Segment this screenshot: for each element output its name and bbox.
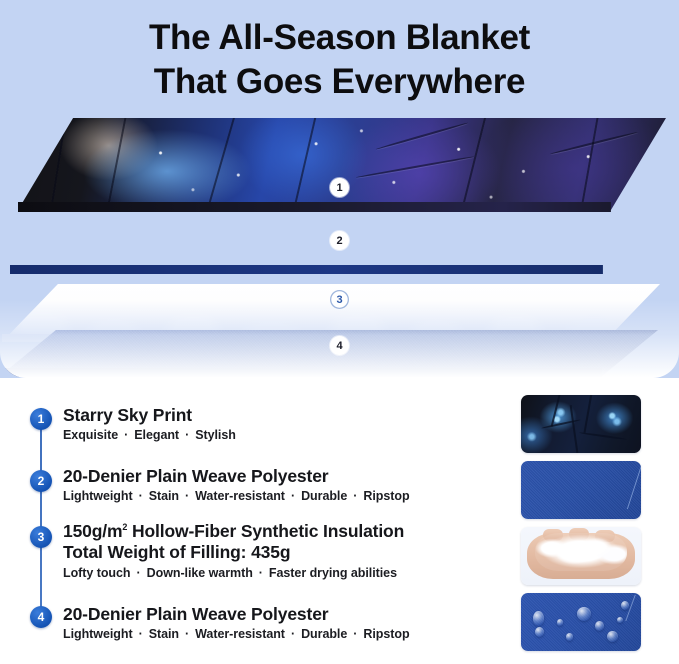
- water-droplet: [617, 617, 623, 623]
- layer-4-polyester-shell: [0, 330, 658, 376]
- separator-dot: ·: [124, 428, 128, 442]
- feature-item-1: Starry Sky Print Exquisite·Elegant·Styli…: [63, 405, 236, 442]
- feature-2-attributes: Lightweight·Stain·Water-resistant·Durabl…: [63, 489, 410, 503]
- feature-badge-1: 1: [30, 408, 52, 430]
- separator-dot: ·: [139, 489, 143, 503]
- thumb-water-beading-on-fabric: [521, 593, 641, 651]
- page-title-line-2: That Goes Everywhere: [0, 60, 679, 104]
- layer-2-edge: [10, 265, 658, 274]
- separator-dot: ·: [353, 627, 357, 641]
- thumb-blue-polyester-closeup: [521, 461, 641, 519]
- water-droplet: [557, 619, 563, 626]
- feature-badge-4: 4: [30, 606, 52, 628]
- stack-marker-1: 1: [330, 178, 349, 197]
- water-droplet: [607, 631, 618, 642]
- feature-4-attr-4: Durable: [301, 627, 347, 641]
- feature-number-rail: 1 2 3 4: [0, 378, 60, 664]
- water-droplet: [621, 601, 629, 610]
- stack-marker-2: 2: [330, 231, 349, 250]
- fiberfill-cluster: [535, 533, 627, 571]
- feature-3-attributes: Lofty touch·Down-like warmth·Faster dryi…: [63, 566, 404, 580]
- layer-4-edge: [0, 368, 658, 377]
- feature-1-attr-1: Exquisite: [63, 428, 118, 442]
- feature-2-attr-1: Lightweight: [63, 489, 133, 503]
- feature-3-gsm-value: 150g/m: [63, 521, 122, 541]
- blanket-layer-stack-diagram: 1 2 3 4: [0, 118, 679, 368]
- feature-1-attributes: Exquisite·Elegant·Stylish: [63, 428, 236, 442]
- feature-3-attr-2: Down-like warmth: [147, 566, 253, 580]
- feature-3-title-line-1: 150g/m2 Hollow-Fiber Synthetic Insulatio…: [63, 521, 404, 542]
- feature-1-attr-2: Elegant: [134, 428, 179, 442]
- fabric-stitch-line: [593, 465, 641, 509]
- water-droplet: [535, 627, 544, 637]
- feature-badge-3: 3: [30, 526, 52, 548]
- water-droplet: [566, 633, 573, 641]
- feature-3-attr-3: Faster drying abilities: [269, 566, 397, 580]
- feature-4-title: 20-Denier Plain Weave Polyester: [63, 604, 410, 625]
- feature-item-4: 20-Denier Plain Weave Polyester Lightwei…: [63, 604, 410, 641]
- feature-2-attr-2: Stain: [149, 489, 179, 503]
- feature-4-attr-5: Ripstop: [363, 627, 409, 641]
- separator-dot: ·: [139, 627, 143, 641]
- water-droplet: [533, 611, 544, 626]
- fabric-seam-line: [597, 595, 635, 621]
- feature-2-title: 20-Denier Plain Weave Polyester: [63, 466, 410, 487]
- feature-3-title-rest: Hollow-Fiber Synthetic Insulation: [127, 521, 404, 541]
- water-droplet: [595, 621, 604, 631]
- thumb-hand-holding-fiberfill: [521, 527, 641, 585]
- feature-item-3: 150g/m2 Hollow-Fiber Synthetic Insulatio…: [63, 521, 404, 580]
- stack-marker-3: 3: [330, 290, 349, 309]
- feature-1-attr-3: Stylish: [195, 428, 236, 442]
- water-droplet: [577, 607, 591, 621]
- feature-1-title: Starry Sky Print: [63, 405, 236, 426]
- rail-connector-line: [40, 408, 42, 608]
- separator-dot: ·: [185, 428, 189, 442]
- feature-3-attr-1: Lofty touch: [63, 566, 131, 580]
- feature-2-attr-5: Ripstop: [363, 489, 409, 503]
- feature-2-attr-4: Durable: [301, 489, 347, 503]
- feature-item-2: 20-Denier Plain Weave Polyester Lightwei…: [63, 466, 410, 503]
- stack-marker-4: 4: [330, 336, 349, 355]
- feature-4-attr-2: Stain: [149, 627, 179, 641]
- feature-3-title-line-2: Total Weight of Filling: 435g: [63, 542, 404, 563]
- separator-dot: ·: [259, 566, 263, 580]
- feature-4-attr-1: Lightweight: [63, 627, 133, 641]
- feature-4-attr-3: Water-resistant: [195, 627, 285, 641]
- thumb-starry-fabric-closeup: [521, 395, 641, 453]
- page-title: The All-Season Blanket That Goes Everywh…: [0, 16, 679, 104]
- separator-dot: ·: [185, 489, 189, 503]
- feature-2-attr-3: Water-resistant: [195, 489, 285, 503]
- separator-dot: ·: [185, 627, 189, 641]
- page-title-line-1: The All-Season Blanket: [0, 16, 679, 60]
- separator-dot: ·: [291, 489, 295, 503]
- hero-section: The All-Season Blanket That Goes Everywh…: [0, 0, 679, 378]
- feature-4-attributes: Lightweight·Stain·Water-resistant·Durabl…: [63, 627, 410, 641]
- separator-dot: ·: [291, 627, 295, 641]
- separator-dot: ·: [353, 489, 357, 503]
- feature-list-panel: 1 2 3 4 Starry Sky Print Exquisite·Elega…: [0, 378, 679, 664]
- separator-dot: ·: [137, 566, 141, 580]
- feature-badge-2: 2: [30, 470, 52, 492]
- layer-1-edge: [18, 202, 666, 212]
